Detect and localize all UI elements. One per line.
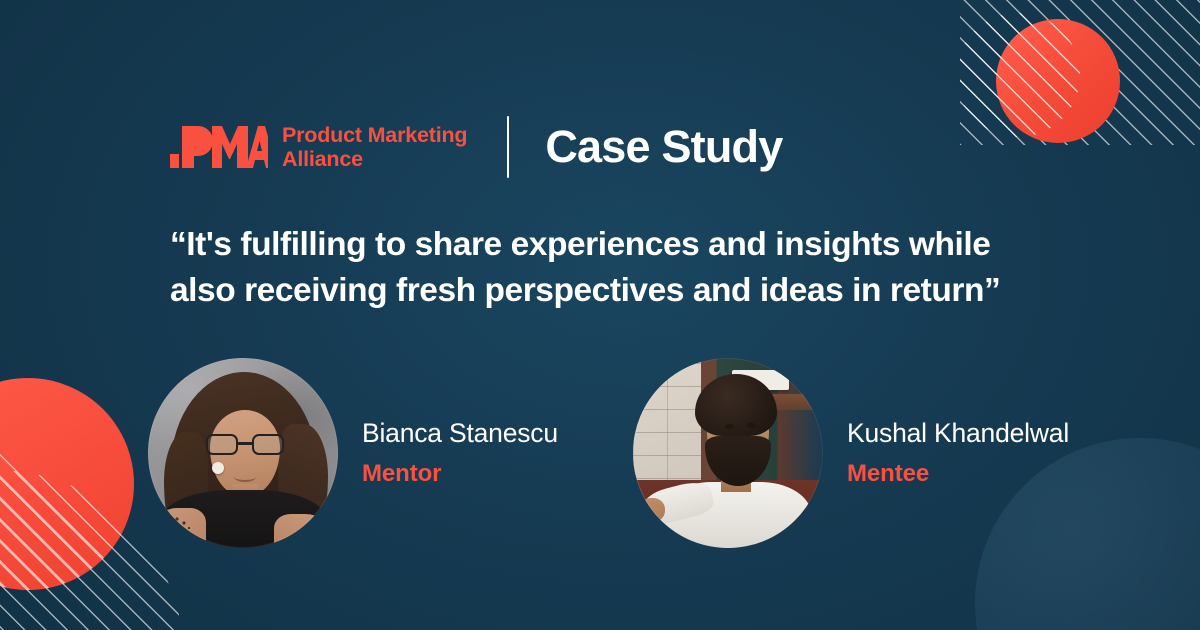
avatar-ring: [633, 358, 823, 548]
avatar-kushal-khandelwal: [633, 358, 823, 548]
coral-circle-top-right-icon: [996, 19, 1120, 143]
pma-wordmark-line-2: Alliance: [282, 147, 467, 172]
pma-wordmark-line-1: Product Marketing: [282, 123, 467, 148]
person-name: Bianca Stanescu: [362, 418, 558, 449]
person-name: Kushal Khandelwal: [847, 418, 1069, 449]
people-row: Bianca Stanescu Mentor: [148, 358, 1158, 558]
diagonal-hatch-overlay-bottom-left-icon: [0, 378, 134, 590]
coral-circle-bottom-left-icon: [0, 378, 134, 590]
person-meta: Kushal Khandelwal Mentee: [847, 418, 1069, 488]
diagonal-hatch-top-right-icon: [960, 0, 1200, 145]
pma-logo[interactable]: Product Marketing Alliance: [170, 123, 467, 172]
person-role-badge: Mentor: [362, 460, 558, 488]
card-header: Product Marketing Alliance Case Study: [170, 113, 782, 181]
pma-wordmark: Product Marketing Alliance: [282, 123, 467, 172]
person-role-badge: Mentee: [847, 460, 1069, 488]
person-card-mentor: Bianca Stanescu Mentor: [148, 358, 558, 548]
avatar-ring: [148, 358, 338, 548]
person-meta: Bianca Stanescu Mentor: [362, 418, 558, 488]
header-divider: [507, 116, 509, 178]
diagonal-hatch-overlay-top-right-icon: [960, 0, 1200, 145]
avatar-bianca-stanescu: [148, 358, 338, 548]
person-card-mentee: Kushal Khandelwal Mentee: [633, 358, 1069, 548]
page-title: Case Study: [545, 121, 782, 173]
case-study-card: Product Marketing Alliance Case Study “I…: [0, 0, 1200, 630]
pma-monogram-icon: [170, 124, 268, 170]
quote-text: “It's fulfilling to share experiences an…: [170, 222, 1060, 314]
